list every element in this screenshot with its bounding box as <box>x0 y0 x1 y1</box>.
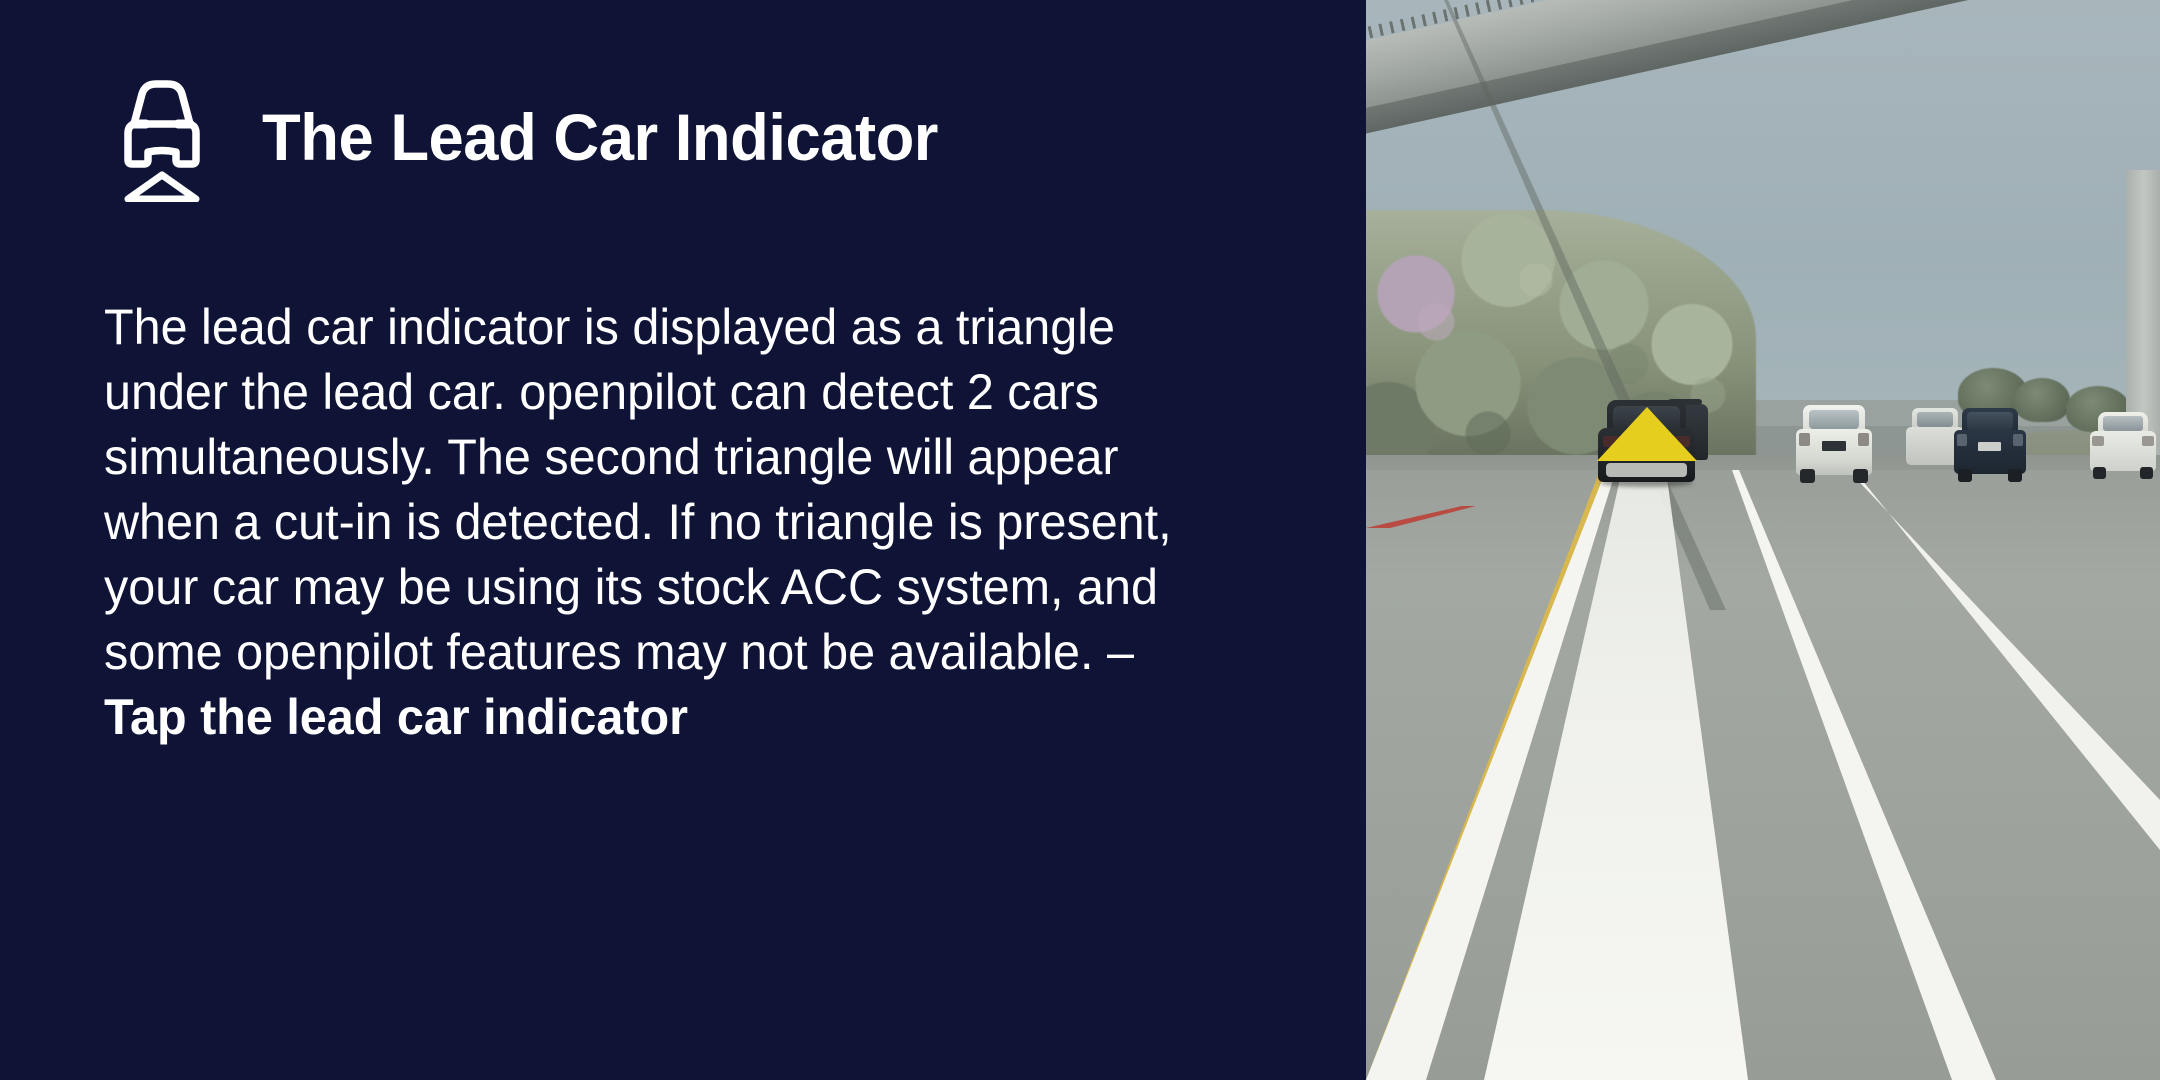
white-suv <box>1796 405 1872 485</box>
white-sedan <box>2090 412 2156 482</box>
white-suv-taillight-left <box>1799 433 1810 446</box>
lead-car-bumper <box>1606 463 1687 477</box>
white-suv-license-plate <box>1822 441 1846 451</box>
blue-pickup-taillight-right <box>2013 434 2023 446</box>
white-sedan-taillight-left <box>2092 436 2104 446</box>
white-sedan-rear-window <box>2103 416 2143 431</box>
driving-camera-photo: Balboa Avenue Garnet Avenue 2 Clairemont… <box>1366 0 2160 1080</box>
lead-car-indicator-slide: The Lead Car Indicator The lead car indi… <box>0 0 2160 1080</box>
white-suv-rear-window <box>1809 410 1859 429</box>
info-panel: The Lead Car Indicator The lead car indi… <box>0 0 1366 1080</box>
blue-pickup-license-plate <box>1978 442 2001 451</box>
blue-pickup-wheel-right <box>2008 469 2022 482</box>
panel-header: The Lead Car Indicator <box>104 72 966 202</box>
panel-body-text: The lead car indicator is displayed as a… <box>104 295 1200 750</box>
body-text-plain: The lead car indicator is displayed as a… <box>104 299 1172 680</box>
white-suv-wheel-left <box>1800 469 1815 483</box>
blue-pickup-wheel-left <box>1958 469 1972 482</box>
blue-pickup <box>1954 408 2026 486</box>
body-text-emphasis: Tap the lead car indicator <box>104 689 688 745</box>
white-sedan-wheel-right <box>2140 467 2153 479</box>
blue-pickup-rear-window <box>1967 412 2013 430</box>
white-suv-wheel-right <box>1853 469 1868 483</box>
lead-car-triangle-overlay[interactable] <box>1597 407 1697 461</box>
lead-car-triangle-icon <box>104 72 220 202</box>
white-sedan-taillight-right <box>2142 436 2154 446</box>
page-title: The Lead Car Indicator <box>262 104 938 170</box>
white-suv-taillight-right <box>1858 433 1869 446</box>
blue-pickup-taillight-left <box>1957 434 1967 446</box>
silver-car-rear-window <box>1917 412 1953 427</box>
white-sedan-wheel-left <box>2093 467 2106 479</box>
